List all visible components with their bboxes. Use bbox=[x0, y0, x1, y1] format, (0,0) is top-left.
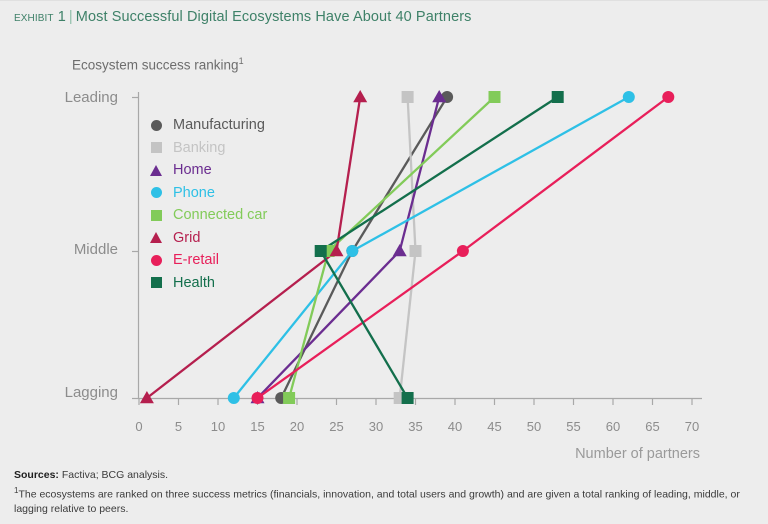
marker-shape bbox=[150, 165, 162, 176]
footnote-line: 1The ecosystems are ranked on three succ… bbox=[14, 484, 740, 517]
legend-item-grid[interactable]: Grid bbox=[148, 227, 267, 250]
square-marker-icon bbox=[148, 277, 164, 288]
series-line-phone bbox=[234, 97, 629, 398]
x-tick-label: 60 bbox=[598, 419, 628, 434]
x-tick-label: 15 bbox=[243, 419, 273, 434]
y-tick-label-leading: Leading bbox=[28, 89, 118, 106]
x-tick-label: 50 bbox=[519, 419, 549, 434]
x-tick-label: 25 bbox=[322, 419, 352, 434]
data-point-health bbox=[402, 392, 414, 404]
x-tick-label: 20 bbox=[282, 419, 312, 434]
legend-item-e-retail[interactable]: E-retail bbox=[148, 249, 267, 272]
circle-marker-icon bbox=[148, 120, 164, 131]
data-point-connected-car bbox=[283, 392, 295, 404]
x-tick-label: 65 bbox=[638, 419, 668, 434]
legend-item-banking[interactable]: Banking bbox=[148, 137, 267, 160]
data-point-phone bbox=[346, 245, 358, 257]
legend-item-home[interactable]: Home bbox=[148, 159, 267, 182]
legend-label: Grid bbox=[173, 230, 200, 246]
legend-item-connected-car[interactable]: Connected car bbox=[148, 204, 267, 227]
legend-label: Health bbox=[173, 275, 215, 291]
legend-label: Connected car bbox=[173, 207, 267, 223]
footer-notes: Sources: Factiva; BCG analysis. 1The eco… bbox=[14, 468, 740, 516]
marker-shape bbox=[151, 187, 162, 198]
data-point-health bbox=[552, 91, 564, 103]
triangle-marker-icon bbox=[148, 165, 164, 176]
marker-shape bbox=[151, 120, 162, 131]
sources-label: Sources: bbox=[14, 469, 59, 481]
data-point-grid bbox=[353, 90, 367, 102]
x-tick-label: 40 bbox=[440, 419, 470, 434]
marker-shape bbox=[151, 142, 162, 153]
legend-label: Phone bbox=[173, 185, 215, 201]
x-tick-label: 30 bbox=[361, 419, 391, 434]
title-divider: | bbox=[66, 9, 76, 25]
data-point-e-retail bbox=[252, 392, 264, 404]
data-point-e-retail bbox=[457, 245, 469, 257]
sources-text: Factiva; BCG analysis. bbox=[59, 469, 168, 481]
x-axis-title: Number of partners bbox=[575, 446, 700, 462]
legend-label: E-retail bbox=[173, 252, 219, 268]
data-point-banking bbox=[410, 245, 422, 257]
x-tick-label: 45 bbox=[480, 419, 510, 434]
y-tick-label-lagging: Lagging bbox=[28, 384, 118, 401]
legend-label: Banking bbox=[173, 140, 225, 156]
marker-shape bbox=[150, 232, 162, 243]
data-point-phone bbox=[623, 91, 635, 103]
x-tick-label: 5 bbox=[164, 419, 194, 434]
legend-item-health[interactable]: Health bbox=[148, 272, 267, 295]
x-tick-label: 55 bbox=[559, 419, 589, 434]
legend-item-manufacturing[interactable]: Manufacturing bbox=[148, 114, 267, 137]
data-point-health bbox=[315, 245, 327, 257]
chart-legend: ManufacturingBankingHomePhoneConnected c… bbox=[148, 114, 267, 294]
marker-shape bbox=[151, 277, 162, 288]
data-point-home bbox=[393, 244, 407, 256]
footnote-body: The ecosystems are ranked on three succe… bbox=[14, 488, 740, 515]
marker-shape bbox=[151, 210, 162, 221]
exhibit-eyebrow: Exhibit 1 bbox=[14, 9, 66, 25]
page-title-text: Most Successful Digital Ecosystems Have … bbox=[76, 9, 472, 25]
x-tick-label: 10 bbox=[203, 419, 233, 434]
page-title: Exhibit 1|Most Successful Digital Ecosys… bbox=[14, 9, 472, 25]
legend-label: Manufacturing bbox=[173, 117, 265, 133]
data-point-phone bbox=[228, 392, 240, 404]
marker-shape bbox=[151, 255, 162, 266]
data-point-e-retail bbox=[662, 91, 674, 103]
top-rule bbox=[0, 0, 768, 1]
square-marker-icon bbox=[148, 142, 164, 153]
sources-line: Sources: Factiva; BCG analysis. bbox=[14, 468, 740, 483]
x-tick-label: 70 bbox=[677, 419, 707, 434]
circle-marker-icon bbox=[148, 187, 164, 198]
x-tick-label: 35 bbox=[401, 419, 431, 434]
legend-label: Home bbox=[173, 162, 212, 178]
data-point-banking bbox=[402, 91, 414, 103]
legend-item-phone[interactable]: Phone bbox=[148, 182, 267, 205]
square-marker-icon bbox=[148, 210, 164, 221]
x-tick-label: 0 bbox=[124, 419, 154, 434]
triangle-marker-icon bbox=[148, 232, 164, 243]
circle-marker-icon bbox=[148, 255, 164, 266]
y-tick-label-middle: Middle bbox=[28, 241, 118, 258]
series-line-manufacturing bbox=[281, 97, 447, 398]
data-point-connected-car bbox=[489, 91, 501, 103]
